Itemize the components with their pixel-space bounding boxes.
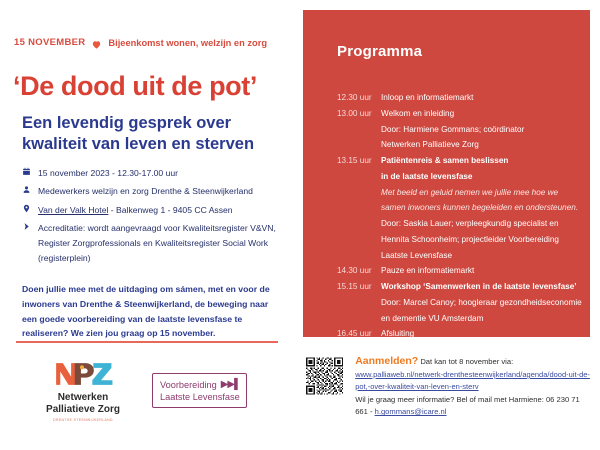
vll-logo-badge: Voorbereiding ▶▶▌ Laatste Levensfase (152, 373, 247, 408)
program-description: Pauze en informatiemarkt (381, 263, 585, 279)
program-row: 13.15 uurPatiëntenreis & samen beslissen… (337, 153, 585, 263)
detail-row-location: Van der Valk Hotel - Balkenweg 1 - 9405 … (14, 203, 299, 218)
program-time: 15.15 uur (337, 279, 381, 295)
page-subtitle: Een levendig gesprek over kwaliteit van … (22, 113, 292, 156)
left-column: 15 NOVEMBER Bijeenkomst wonen, welzijn e… (0, 0, 303, 450)
vll-label-top: Voorbereiding (160, 379, 217, 391)
program-list: 12.30 uurInloop en informatiemarkt13.00 … (337, 90, 585, 342)
event-details-list: 15 november 2023 - 12.30-17.00 uur Medew… (14, 166, 299, 270)
vll-label-bottom: Laatste Levensfase (160, 391, 240, 403)
program-row: 12.30 uurInloop en informatiemarkt (337, 90, 585, 106)
signup-deadline: Dat kan tot 8 november via: (418, 357, 513, 366)
location-pin-icon (14, 203, 38, 213)
program-line: Door: Marcel Canoy; hoogleraar gezondhei… (381, 295, 585, 311)
signup-contact: Wil je graag meer informatie? Bel of mai… (355, 394, 593, 418)
kicker: 15 NOVEMBER Bijeenkomst wonen, welzijn e… (14, 37, 267, 48)
program-time: 13.15 uur (337, 153, 381, 169)
program-line: Welkom en inleiding (381, 106, 585, 122)
program-row: 15.15 uurWorkshop ‘Samenwerken in de laa… (337, 279, 585, 326)
detail-row-accreditation: Accreditatie: wordt aangevraagd voor Kwa… (14, 221, 299, 267)
fast-forward-icon: ▶▶▌ (221, 378, 240, 391)
program-line: samen inwoners kunnen begeleiden en onde… (381, 200, 585, 216)
npz-logo: Netwerken Palliatieve Zorg DRENTHE STEEN… (14, 356, 134, 422)
page-title: ‘De dood uit de pot’ (13, 72, 257, 100)
program-time: 12.30 uur (337, 90, 381, 106)
npz-logo-name-text: Netwerken Palliatieve Zorg (46, 392, 120, 415)
flyer-page: 15 NOVEMBER Bijeenkomst wonen, welzijn e… (0, 0, 600, 450)
program-description: Patiëntenreis & samen beslissenin de laa… (381, 153, 585, 263)
qr-code-graphic (306, 348, 343, 404)
npz-logomark-icon (32, 356, 134, 388)
program-panel: Programma 12.30 uurInloop en informatiem… (303, 10, 590, 337)
program-line: Patiëntenreis & samen beslissen (381, 153, 585, 169)
program-description: Inloop en informatiemarkt (381, 90, 585, 106)
program-line: en dementie VU Amsterdam (381, 311, 585, 327)
program-line: in de laatste levensfase (381, 169, 585, 185)
program-time: 14.30 uur (337, 263, 381, 279)
venue-link[interactable]: Van der Valk Hotel (38, 205, 108, 215)
program-row: 13.00 uurWelkom en inleidingDoor: Harmie… (337, 106, 585, 153)
signup-headline-row: Aanmelden? Dat kan tot 8 november via: (355, 351, 593, 369)
kicker-date: 15 NOVEMBER (14, 37, 85, 48)
signup-email-link[interactable]: h.gommans@icare.nl (375, 407, 447, 416)
detail-date-text: 15 november 2023 - 12.30-17.00 uur (38, 166, 299, 181)
vll-line-1: Voorbereiding ▶▶▌ (160, 378, 240, 391)
signup-url-link[interactable]: www.palliaweb.nl/netwerk-drenthesteenwij… (355, 369, 593, 392)
program-time: 16.45 uur (337, 326, 381, 342)
chevron-right-icon (14, 221, 38, 231)
program-description: Welkom en inleidingDoor: Harmiene Gomman… (381, 106, 585, 153)
program-description: Workshop ‘Samenwerken in de laatste leve… (381, 279, 585, 326)
program-time: 13.00 uur (337, 106, 381, 122)
qr-code-icon[interactable] (303, 345, 346, 407)
detail-location-text: Van der Valk Hotel - Balkenweg 1 - 9405 … (38, 203, 299, 218)
program-line: Hennita Schoonheim; projectleider Voorbe… (381, 232, 585, 248)
program-title: Programma (337, 43, 422, 60)
kicker-subject: Bijeenkomst wonen, welzijn en zorg (108, 38, 267, 48)
program-line: Pauze en informatiemarkt (381, 263, 585, 279)
program-line: Inloop en informatiemarkt (381, 90, 585, 106)
venue-address: - Balkenweg 1 - 9405 CC Assen (108, 205, 232, 215)
detail-audience-text: Medewerkers welzijn en zorg Drenthe & St… (38, 184, 299, 199)
program-line: Netwerken Palliatieve Zorg (381, 137, 585, 153)
program-line: Door: Harmiene Gommans; coördinator (381, 122, 585, 138)
heart-icon (91, 37, 102, 48)
detail-row-audience: Medewerkers welzijn en zorg Drenthe & St… (14, 184, 299, 199)
program-line: Afsluiting (381, 326, 585, 342)
npz-logo-region: DRENTHE STEENWIJKERLAND (32, 418, 134, 422)
program-line: Workshop ‘Samenwerken in de laatste leve… (381, 279, 585, 295)
program-line: Met beeld en geluid nemen we jullie mee … (381, 185, 585, 201)
npz-logo-name: Netwerken Palliatieve Zorg (32, 392, 134, 416)
program-line: Door: Saskia Lauer; verpleegkundig speci… (381, 216, 585, 232)
signup-text: Aanmelden? Dat kan tot 8 november via: w… (355, 345, 593, 418)
logo-row: Netwerken Palliatieve Zorg DRENTHE STEEN… (14, 356, 294, 422)
program-description: Afsluiting (381, 326, 585, 342)
person-icon (14, 184, 38, 194)
program-row: 14.30 uurPauze en informatiemarkt (337, 263, 585, 279)
detail-accreditation-text: Accreditatie: wordt aangevraagd voor Kwa… (38, 221, 299, 267)
detail-row-date: 15 november 2023 - 12.30-17.00 uur (14, 166, 299, 181)
calendar-icon (14, 166, 38, 176)
program-row: 16.45 uurAfsluiting (337, 326, 585, 342)
signup-heading: Aanmelden? (355, 355, 418, 367)
program-line: Laatste Levensfase (381, 248, 585, 264)
divider (16, 341, 278, 343)
signup-block: Aanmelden? Dat kan tot 8 november via: w… (303, 345, 593, 418)
lead-paragraph: Doen jullie mee met de uitdaging om sáme… (22, 282, 284, 341)
